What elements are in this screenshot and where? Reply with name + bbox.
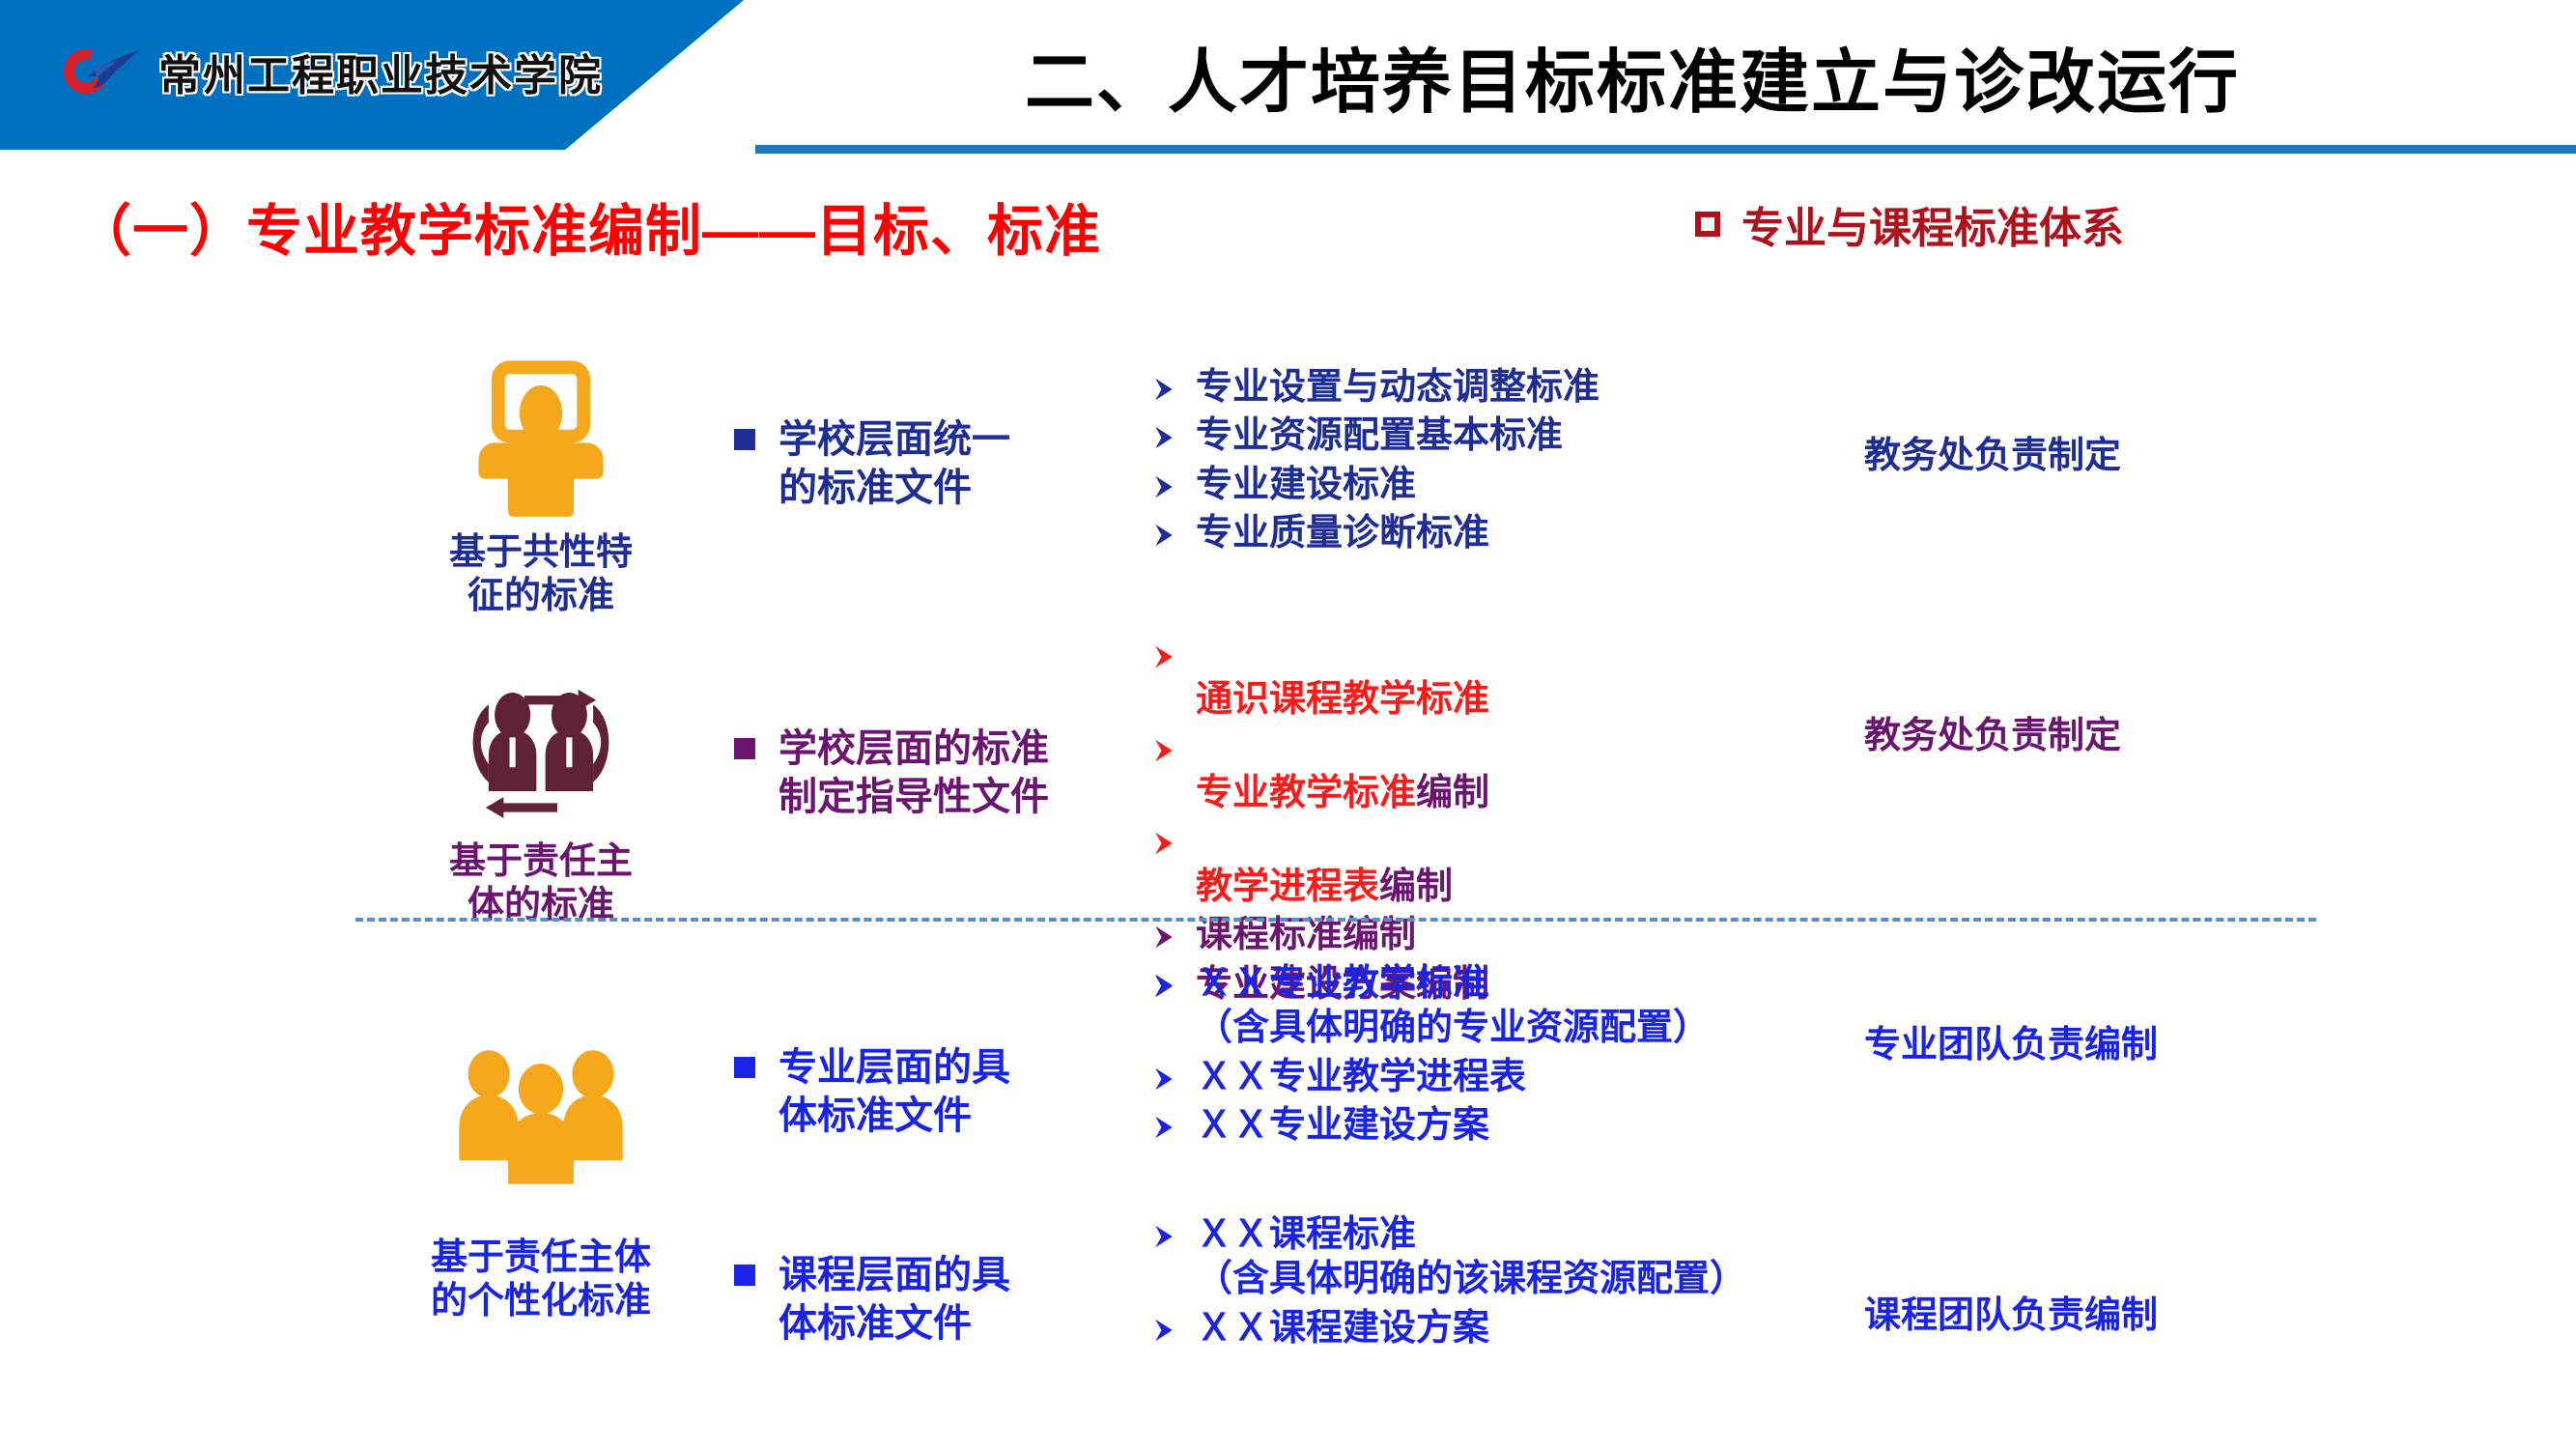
person-at-whiteboard-icon	[459, 357, 623, 522]
school-emblem-icon	[60, 42, 143, 101]
row1-caption: 基于共性特 征的标准	[396, 531, 686, 618]
list-item-text: ＸＸ专业建设方案	[1196, 1103, 1489, 1148]
chevron-arrow-icon	[1149, 423, 1178, 452]
page-title: 二、人才培养目标标准建立与诊改运行	[792, 25, 2473, 127]
chevron-arrow-icon	[1149, 1065, 1178, 1094]
section-dashed-divider	[355, 918, 2316, 922]
chevron-arrow-icon	[1149, 736, 1178, 765]
list-item: 专业教学标准编制	[1149, 726, 1845, 816]
list-item-text: 专业质量诊断标准	[1196, 511, 1489, 555]
row3a-description-text: 专业层面的具 体标准文件	[778, 1043, 1010, 1141]
row2-caption: 基于责任主 体的标准	[396, 840, 686, 927]
list-item-text: ＸＸ课程建设方案	[1196, 1306, 1489, 1350]
list-item-text: ＸＸ专业教学标准 （含具体明确的专业资源配置）	[1196, 961, 1710, 1051]
chevron-arrow-icon	[1149, 1222, 1178, 1251]
row3a-description-block: 专业层面的具 体标准文件	[734, 1043, 1140, 1141]
list-item-text: 教学进程表编制	[1196, 819, 1453, 909]
list-item-text: 专业建设标准	[1196, 463, 1416, 507]
square-bullet-icon	[734, 738, 755, 759]
list-item-text-main: 教学进程表	[1196, 867, 1379, 907]
chevron-arrow-icon	[1149, 829, 1178, 858]
list-item: 专业质量诊断标准	[1149, 511, 1845, 555]
institution-logo: 常州工程职业技术学院	[60, 37, 603, 106]
row3a-standards-list: ＸＸ专业教学标准 （含具体明确的专业资源配置） ＸＸ专业教学进程表 ＸＸ专业建设…	[1149, 961, 1845, 1151]
chevron-arrow-icon	[1149, 375, 1178, 404]
list-item-text-tail: 编制	[1379, 867, 1453, 907]
list-item: ＸＸ专业建设方案	[1149, 1103, 1845, 1148]
row3b-description-text: 课程层面的具 体标准文件	[778, 1251, 1010, 1349]
row2-description-block: 学校层面的标准 制定指导性文件	[734, 725, 1140, 822]
list-item: ＸＸ专业教学标准 （含具体明确的专业资源配置）	[1149, 961, 1845, 1051]
two-people-collaboration-icon	[459, 686, 623, 831]
chevron-arrow-icon	[1149, 971, 1178, 1000]
list-item: 教学进程表编制	[1149, 819, 1845, 909]
chevron-arrow-icon	[1149, 1316, 1178, 1345]
list-item: 专业建设标准	[1149, 463, 1845, 507]
list-item: ＸＸ课程建设方案	[1149, 1306, 1845, 1350]
list-item: 专业设置与动态调整标准	[1149, 365, 1845, 410]
row1-icon-block: 基于共性特 征的标准	[396, 357, 686, 618]
list-item-text: ＸＸ课程标准 （含具体明确的该课程资源配置）	[1196, 1212, 1746, 1302]
list-item-text-tail: 编制	[1416, 773, 1489, 813]
list-item-text: 专业教学标准编制	[1196, 726, 1489, 816]
list-item-text: 通识课程教学标准	[1196, 633, 1489, 723]
chevron-arrow-icon	[1149, 472, 1178, 501]
list-item: ＸＸ课程标准 （含具体明确的该课程资源配置）	[1149, 1212, 1845, 1302]
row2-description-text: 学校层面的标准 制定指导性文件	[778, 725, 1049, 822]
square-bullet-icon	[734, 1057, 755, 1078]
chevron-arrow-icon	[1149, 642, 1178, 671]
logo-text: 常州工程职业技术学院	[158, 41, 603, 102]
list-item-text-main: 通识课程教学标准	[1196, 679, 1489, 720]
row3-icon-block: 基于责任主体 的个性化标准	[396, 1043, 686, 1323]
header-divider-rule	[755, 145, 2576, 154]
list-item-text: 专业设置与动态调整标准	[1196, 365, 1599, 410]
row1-standards-list: 专业设置与动态调整标准 专业资源配置基本标准 专业建设标准 专业质量诊断标准	[1149, 365, 1845, 559]
row2-icon-block: 基于责任主 体的标准	[396, 686, 686, 927]
row2-owner-label: 教务处负责制定	[1864, 705, 2121, 758]
three-people-group-icon	[444, 1043, 637, 1188]
row3b-owner-label: 课程团队负责编制	[1864, 1285, 2158, 1338]
row3-caption: 基于责任主体 的个性化标准	[396, 1237, 686, 1323]
section-topic-label: 专业与课程标准体系	[1695, 193, 2124, 255]
chevron-arrow-icon	[1149, 1113, 1178, 1142]
swoosh-bird-icon	[85, 47, 141, 94]
list-item: 通识课程教学标准	[1149, 633, 1845, 723]
row1-description-block: 学校层面统一 的标准文件	[734, 415, 1140, 513]
chevron-arrow-icon	[1149, 521, 1178, 550]
row3b-standards-list: ＸＸ课程标准 （含具体明确的该课程资源配置） ＸＸ课程建设方案	[1149, 1212, 1845, 1354]
square-bullet-icon	[734, 429, 755, 450]
row2-standards-list: 通识课程教学标准 专业教学标准编制 教学进程表编制	[1149, 633, 1845, 1010]
list-item: ＸＸ专业教学进程表	[1149, 1055, 1845, 1099]
section-subtitle: （一）专业教学标准编制——目标、标准	[75, 185, 1101, 267]
row1-owner-label: 教务处负责制定	[1864, 425, 2121, 478]
square-bullet-icon	[734, 1265, 755, 1286]
list-item-text-main: 专业教学标准	[1196, 773, 1416, 813]
row1-description-text: 学校层面统一 的标准文件	[778, 415, 1010, 513]
slide-canvas: 常州工程职业技术学院 二、人才培养目标标准建立与诊改运行 （一）专业教学标准编制…	[0, 0, 2576, 1450]
row3b-description-block: 课程层面的具 体标准文件	[734, 1251, 1140, 1349]
list-item: 专业资源配置基本标准	[1149, 413, 1845, 458]
list-item-text: 专业资源配置基本标准	[1196, 413, 1563, 458]
list-item-text: ＸＸ专业教学进程表	[1196, 1055, 1526, 1099]
square-outline-marker-icon	[1695, 212, 1720, 237]
row3a-owner-label: 专业团队负责编制	[1864, 1014, 2158, 1067]
chevron-arrow-icon	[1149, 923, 1178, 952]
section-topic-text: 专业与课程标准体系	[1741, 193, 2124, 255]
